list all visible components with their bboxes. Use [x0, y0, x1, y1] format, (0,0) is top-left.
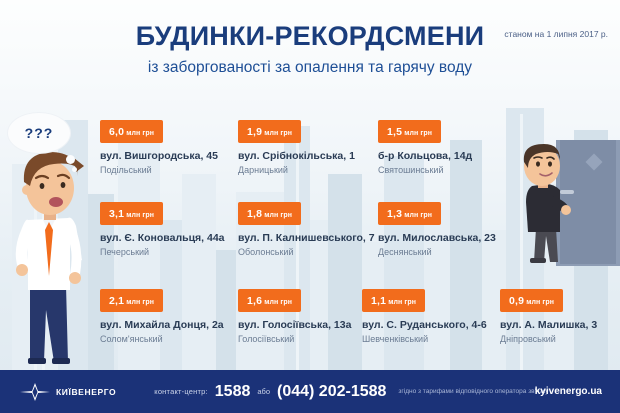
district-label: Солом'янський: [100, 334, 250, 344]
address-label: вул. Вишгородська, 45: [100, 150, 250, 162]
record-cell: 1,1млн грн вул. С. Руданського, 4-6 Шевч…: [362, 289, 512, 344]
amount-badge: 1,6млн грн: [238, 289, 301, 312]
record-cell: 1,9млн грн вул. Срібнокільська, 1 Дарниц…: [238, 120, 388, 175]
amount-unit: млн грн: [264, 299, 292, 306]
amount-value: 1,8: [247, 208, 262, 220]
footer-bar: КИЇВЕНЕРГО контакт-центр: 1588 або (044)…: [0, 370, 620, 413]
amount-value: 0,9: [509, 295, 524, 307]
infographic-canvas: БУДИНКИ-РЕКОРДСМЕНИ із заборгованості за…: [0, 0, 620, 413]
records-grid: 6,0млн грн вул. Вишгородська, 45 Подільс…: [0, 112, 620, 362]
record-cell: 0,9млн грн вул. А. Малишка, 3 Дніпровськ…: [500, 289, 620, 344]
amount-value: 1,9: [247, 126, 262, 138]
address-label: вул. П. Калнишевського, 7: [238, 232, 388, 244]
amount-unit: млн грн: [264, 212, 292, 219]
record-cell: 1,5млн грн б-р Кольцова, 14д Святошинськ…: [378, 120, 528, 175]
amount-badge: 1,8млн грн: [238, 202, 301, 225]
contact-center-label: контакт-центр:: [154, 387, 208, 396]
amount-badge: 3,1млн грн: [100, 202, 163, 225]
amount-unit: млн грн: [126, 299, 154, 306]
tariff-note: згідно з тарифами відповідного оператора…: [398, 388, 548, 395]
as-of-date: станом на 1 липня 2017 р.: [504, 29, 608, 39]
amount-badge: 1,5млн грн: [378, 120, 441, 143]
address-label: б-р Кольцова, 14д: [378, 150, 528, 162]
amount-badge: 1,3млн грн: [378, 202, 441, 225]
or-label: або: [257, 387, 270, 396]
address-label: вул. Є. Коновальця, 44а: [100, 232, 250, 244]
record-cell: 2,1млн грн вул. Михайла Донця, 2а Солом'…: [100, 289, 250, 344]
district-label: Оболонський: [238, 247, 388, 257]
district-label: Шевченківський: [362, 334, 512, 344]
website-link[interactable]: kyivenergo.ua: [535, 386, 602, 397]
district-label: Дніпровський: [500, 334, 620, 344]
amount-value: 6,0: [109, 126, 124, 138]
amount-value: 3,1: [109, 208, 124, 220]
amount-unit: млн грн: [388, 299, 416, 306]
record-cell: 6,0млн грн вул. Вишгородська, 45 Подільс…: [100, 120, 250, 175]
amount-unit: млн грн: [526, 299, 554, 306]
kyivenergo-star-icon: [18, 382, 52, 402]
amount-unit: млн грн: [404, 212, 432, 219]
page-subtitle: із заборгованості за опалення та гарячу …: [0, 59, 620, 77]
amount-value: 1,1: [371, 295, 386, 307]
district-label: Святошинський: [378, 165, 528, 175]
amount-value: 1,3: [387, 208, 402, 220]
amount-badge: 1,9млн грн: [238, 120, 301, 143]
amount-unit: млн грн: [264, 130, 292, 137]
phone-full[interactable]: (044) 202-1588: [277, 383, 386, 401]
address-label: вул. Милославська, 23: [378, 232, 528, 244]
address-label: вул. Срібнокільська, 1: [238, 150, 388, 162]
address-label: вул. Михайла Донця, 2а: [100, 319, 250, 331]
amount-badge: 0,9млн грн: [500, 289, 563, 312]
amount-value: 1,6: [247, 295, 262, 307]
brand-logo: КИЇВЕНЕРГО: [18, 382, 116, 402]
address-label: вул. С. Руданського, 4-6: [362, 319, 512, 331]
district-label: Дарницький: [238, 165, 388, 175]
district-label: Деснянський: [378, 247, 528, 257]
amount-unit: млн грн: [126, 130, 154, 137]
amount-badge: 6,0млн грн: [100, 120, 163, 143]
amount-badge: 1,1млн грн: [362, 289, 425, 312]
amount-badge: 2,1млн грн: [100, 289, 163, 312]
record-cell: 3,1млн грн вул. Є. Коновальця, 44а Печер…: [100, 202, 250, 257]
amount-value: 2,1: [109, 295, 124, 307]
phone-short[interactable]: 1588: [215, 383, 251, 401]
record-cell: 1,3млн грн вул. Милославська, 23 Деснянс…: [378, 202, 528, 257]
district-label: Подільський: [100, 165, 250, 175]
district-label: Печерський: [100, 247, 250, 257]
brand-name: КИЇВЕНЕРГО: [56, 387, 116, 397]
address-label: вул. А. Малишка, 3: [500, 319, 620, 331]
amount-value: 1,5: [387, 126, 402, 138]
amount-unit: млн грн: [404, 130, 432, 137]
record-cell: 1,8млн грн вул. П. Калнишевського, 7 Обо…: [238, 202, 388, 257]
amount-unit: млн грн: [126, 212, 154, 219]
